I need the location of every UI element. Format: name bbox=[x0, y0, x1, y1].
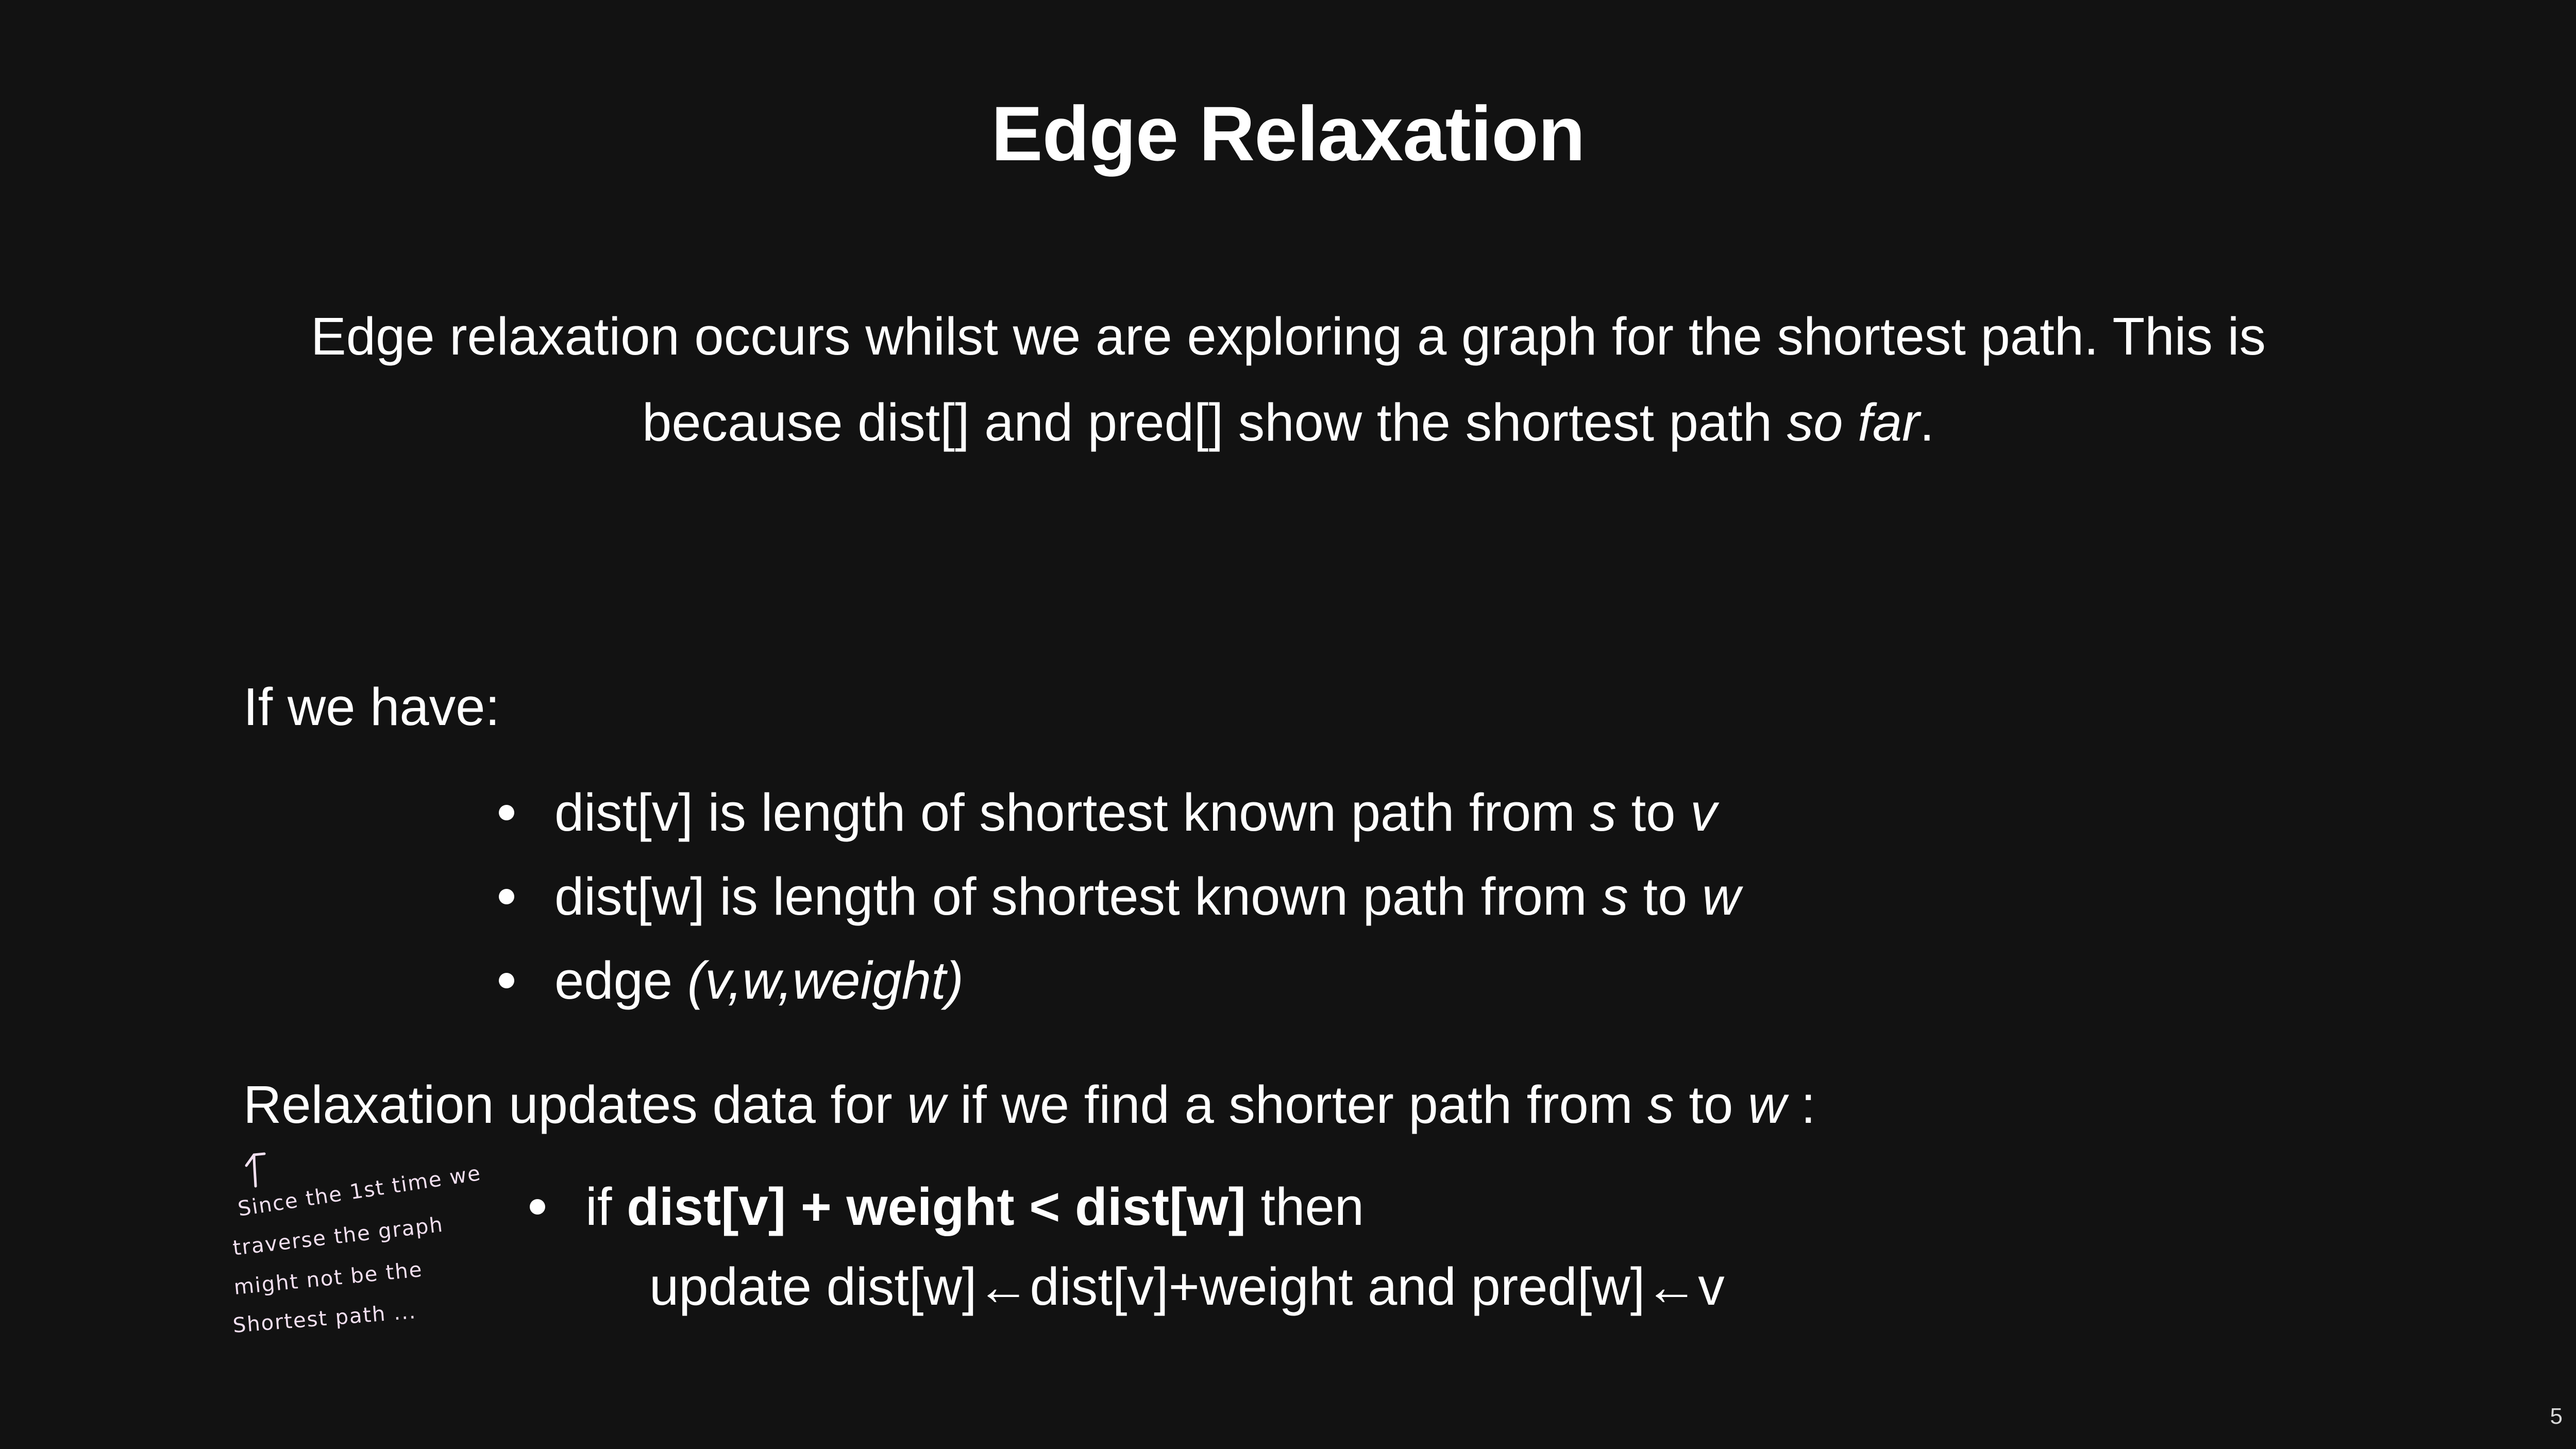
list-item-text-before: dist[w] is length of shortest known path… bbox=[554, 867, 1602, 926]
annotation-line-4: Shortest path ... bbox=[232, 1300, 417, 1338]
list-item-italic-1: s bbox=[1590, 783, 1617, 842]
intro-text-part2: . bbox=[1920, 393, 1934, 452]
intro-text-italic: so far bbox=[1787, 393, 1920, 452]
if-keyword: if bbox=[585, 1177, 627, 1236]
relaxation-statement: Relaxation updates data for w if we find… bbox=[243, 1073, 2356, 1137]
list-item: dist[v] is length of shortest known path… bbox=[495, 786, 2350, 839]
list-item-text-middle: to bbox=[1617, 783, 1690, 842]
list-item: dist[w] is length of shortest known path… bbox=[495, 870, 2350, 923]
pseudocode-update-line: update dist[w]←dist[v]+weight and pred[w… bbox=[526, 1260, 2381, 1313]
bullet-dot-icon bbox=[530, 1199, 545, 1215]
list-item-text-middle: to bbox=[1628, 867, 1702, 926]
conditions-list: dist[v] is length of shortest known path… bbox=[495, 786, 2350, 1038]
relax-italic-s: s bbox=[1647, 1075, 1674, 1134]
annotation-line-2: traverse the graph bbox=[231, 1213, 445, 1260]
list-item-italic-1: (v,w,weight) bbox=[687, 951, 964, 1010]
annotation-line-1: Since the 1st time we bbox=[237, 1161, 483, 1221]
bullet-dot-icon bbox=[499, 889, 514, 904]
pseudocode-if-line: if dist[v] + weight < dist[w] then bbox=[526, 1180, 2381, 1233]
relax-part2: if we find a shorter path from bbox=[946, 1075, 1648, 1134]
bullet-dot-icon bbox=[499, 973, 514, 988]
lead-line: If we have: bbox=[243, 675, 500, 739]
intro-text-part1: Edge relaxation occurs whilst we are exp… bbox=[311, 307, 2266, 452]
relax-part4: : bbox=[1786, 1075, 1815, 1134]
presentation-slide: Edge Relaxation Edge relaxation occurs w… bbox=[0, 0, 2576, 1449]
intro-paragraph: Edge relaxation occurs whilst we are exp… bbox=[289, 294, 2288, 466]
page-title: Edge Relaxation bbox=[0, 92, 2576, 175]
relax-italic-w2: w bbox=[1748, 1075, 1786, 1134]
list-item-text-before: edge bbox=[554, 951, 687, 1010]
relax-italic-w1: w bbox=[907, 1075, 945, 1134]
list-item-italic-2: v bbox=[1690, 783, 1717, 842]
annotation-line-3: might not be the bbox=[233, 1258, 424, 1300]
list-item-text-before: dist[v] is length of shortest known path… bbox=[554, 783, 1590, 842]
if-condition: dist[v] + weight < dist[w] bbox=[627, 1177, 1246, 1236]
up-arrow-icon bbox=[240, 1148, 271, 1188]
list-item: edge (v,w,weight) bbox=[495, 954, 2350, 1007]
list-item-italic-2: w bbox=[1702, 867, 1740, 926]
relax-part1: Relaxation updates data for bbox=[243, 1075, 907, 1134]
list-item-italic-1: s bbox=[1602, 867, 1628, 926]
pseudocode-block: if dist[v] + weight < dist[w] then updat… bbox=[526, 1180, 2381, 1313]
page-number: 5 bbox=[2550, 1404, 2563, 1429]
then-keyword: then bbox=[1246, 1177, 1364, 1236]
bullet-dot-icon bbox=[499, 805, 514, 820]
relax-part3: to bbox=[1674, 1075, 1748, 1134]
